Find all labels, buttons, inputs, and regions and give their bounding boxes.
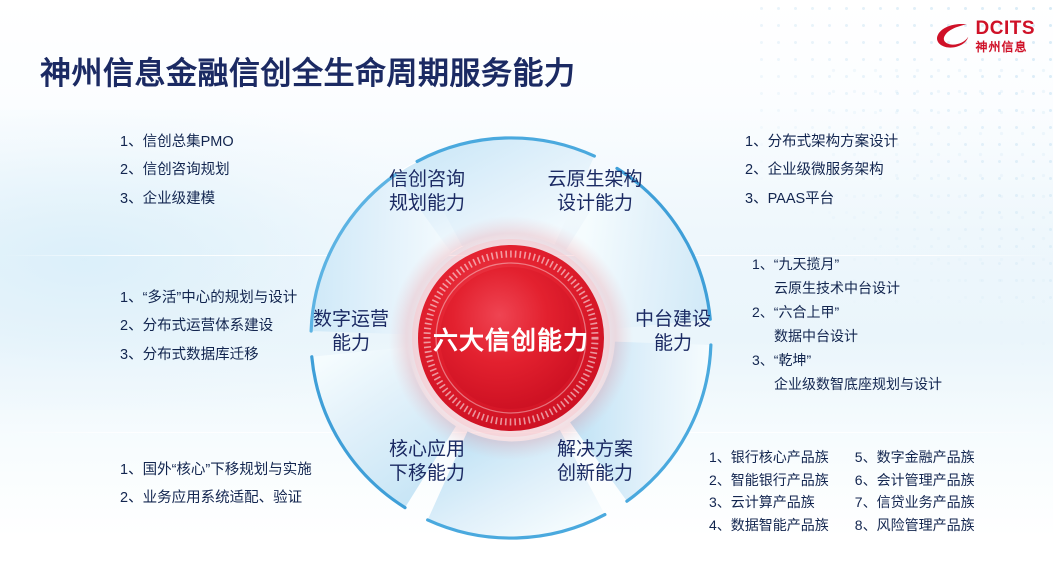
brand-logo: DCITS 神州信息 (935, 16, 1036, 56)
list-item: 3、企业级建模 (120, 185, 234, 213)
list-item: 7、信贷业务产品族 (855, 491, 975, 514)
product-column-2: 5、数字金融产品族 6、会计管理产品族 7、信贷业务产品族 8、风险管理产品族 (855, 446, 975, 537)
list-item: 1、“多活”中心的规划与设计 (120, 284, 297, 312)
list-item-sub: 企业级数智底座规划与设计 (752, 372, 942, 396)
list-item: 3、PAAS平台 (745, 185, 898, 213)
list-item: 2、业务应用系统适配、验证 (120, 484, 312, 512)
product-column-1: 1、银行核心产品族 2、智能银行产品族 3、云计算产品族 4、数据智能产品族 (709, 446, 829, 537)
panel-mid-left: 1、“多活”中心的规划与设计 2、分布式运营体系建设 3、分布式数据库迁移 (120, 284, 297, 369)
list-item: 2、分布式运营体系建设 (120, 312, 297, 340)
logo-text-en: DCITS (976, 19, 1036, 38)
list-item: 1、信创总集PMO (120, 128, 234, 156)
list-item: 1、“九天揽月” (752, 252, 942, 276)
list-item: 6、会计管理产品族 (855, 469, 975, 492)
list-item: 1、分布式架构方案设计 (745, 128, 898, 156)
list-item: 5、数字金融产品族 (855, 446, 975, 469)
dcits-swoosh-icon (935, 21, 969, 51)
list-item: 4、数据智能产品族 (709, 514, 829, 537)
list-item: 3、分布式数据库迁移 (120, 341, 297, 369)
list-item: 2、智能银行产品族 (709, 469, 829, 492)
panel-bottom-right: 1、银行核心产品族 2、智能银行产品族 3、云计算产品族 4、数据智能产品族 5… (709, 446, 975, 537)
list-item: 3、云计算产品族 (709, 491, 829, 514)
list-item-sub: 云原生技术中台设计 (752, 276, 942, 300)
list-item: 1、银行核心产品族 (709, 446, 829, 469)
list-item: 2、企业级微服务架构 (745, 156, 898, 184)
list-item: 2、信创咨询规划 (120, 156, 234, 184)
list-item: 1、国外“核心”下移规划与实施 (120, 456, 312, 484)
panel-mid-right: 1、“九天揽月” 云原生技术中台设计 2、“六合上甲” 数据中台设计 3、“乾坤… (752, 252, 942, 396)
panel-bottom-left: 1、国外“核心”下移规划与实施 2、业务应用系统适配、验证 (120, 456, 312, 513)
list-item: 2、“六合上甲” (752, 300, 942, 324)
panel-top-left: 1、信创总集PMO 2、信创咨询规划 3、企业级建模 (120, 128, 234, 213)
list-item: 3、“乾坤” (752, 348, 942, 372)
list-item: 8、风险管理产品族 (855, 514, 975, 537)
panel-top-right: 1、分布式架构方案设计 2、企业级微服务架构 3、PAAS平台 (745, 128, 898, 213)
page-title: 神州信息金融信创全生命周期服务能力 (40, 48, 576, 93)
capability-wheel: 信创咨询 规划能力 云原生架构 设计能力 中台建设 能力 解决方案 创新能力 核… (281, 128, 741, 548)
slide-canvas: 神州信息金融信创全生命周期服务能力 DCITS 神州信息 (0, 0, 1053, 584)
list-item-sub: 数据中台设计 (752, 324, 942, 348)
logo-text-cn: 神州信息 (976, 41, 1036, 53)
core-label: 六大信创能力 (281, 321, 741, 357)
